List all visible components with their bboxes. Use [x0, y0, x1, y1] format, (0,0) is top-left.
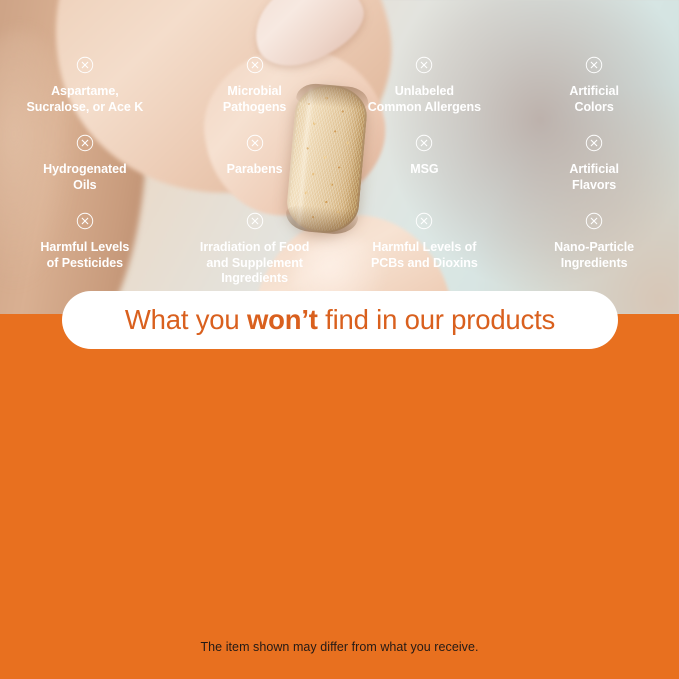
items-row-2: Hydrogenated Oils Parabens MSG [0, 128, 679, 206]
headline-emphasis: won’t [247, 304, 318, 335]
item-cell: Unlabeled Common Allergens [340, 50, 510, 128]
item-label: Unlabeled Common Allergens [368, 84, 481, 115]
headline-text: What you won’t find in our products [125, 304, 555, 336]
circle-x-icon [246, 212, 264, 230]
item-cell: Aspartame, Sucralose, or Ace K [0, 50, 170, 128]
product-claims-infographic: What you won’t find in our products Aspa… [0, 0, 679, 679]
circle-x-icon [585, 134, 603, 152]
headline-part-1: What you [125, 304, 247, 335]
item-label: Nano-Particle Ingredients [554, 240, 634, 271]
item-label: Irradiation of Food and Supplement Ingre… [200, 240, 309, 287]
item-label: Microbial Pathogens [223, 84, 286, 115]
item-label: Harmful Levels of PCBs and Dioxins [371, 240, 478, 271]
item-cell: Parabens [170, 128, 340, 206]
circle-x-icon [76, 134, 94, 152]
circle-x-icon [76, 212, 94, 230]
item-label: Artificial Flavors [569, 162, 619, 193]
headline-banner: What you won’t find in our products [62, 291, 618, 349]
circle-x-icon [246, 134, 264, 152]
claims-panel [0, 314, 679, 679]
item-cell: Artificial Flavors [509, 128, 679, 206]
circle-x-icon [415, 56, 433, 74]
item-cell: Harmful Levels of PCBs and Dioxins [340, 206, 510, 292]
item-label: Hydrogenated Oils [43, 162, 126, 193]
disclaimer-text: The item shown may differ from what you … [0, 640, 679, 654]
circle-x-icon [585, 56, 603, 74]
items-row-1: Aspartame, Sucralose, or Ace K Microbial… [0, 50, 679, 128]
excluded-items-grid: Aspartame, Sucralose, or Ace K Microbial… [0, 50, 679, 292]
item-label: Parabens [227, 162, 283, 178]
circle-x-icon [415, 134, 433, 152]
circle-x-icon [76, 56, 94, 74]
item-cell: Irradiation of Food and Supplement Ingre… [170, 206, 340, 292]
item-label: Harmful Levels of Pesticides [40, 240, 129, 271]
item-cell: Nano-Particle Ingredients [509, 206, 679, 292]
item-label: Aspartame, Sucralose, or Ace K [27, 84, 144, 115]
item-cell: Hydrogenated Oils [0, 128, 170, 206]
circle-x-icon [415, 212, 433, 230]
item-cell: Microbial Pathogens [170, 50, 340, 128]
item-cell: MSG [340, 128, 510, 206]
circle-x-icon [246, 56, 264, 74]
items-row-3: Harmful Levels of Pesticides Irradiation… [0, 206, 679, 292]
headline-part-2: find in our products [318, 304, 555, 335]
item-cell: Artificial Colors [509, 50, 679, 128]
item-cell: Harmful Levels of Pesticides [0, 206, 170, 292]
item-label: MSG [410, 162, 438, 178]
item-label: Artificial Colors [569, 84, 619, 115]
circle-x-icon [585, 212, 603, 230]
